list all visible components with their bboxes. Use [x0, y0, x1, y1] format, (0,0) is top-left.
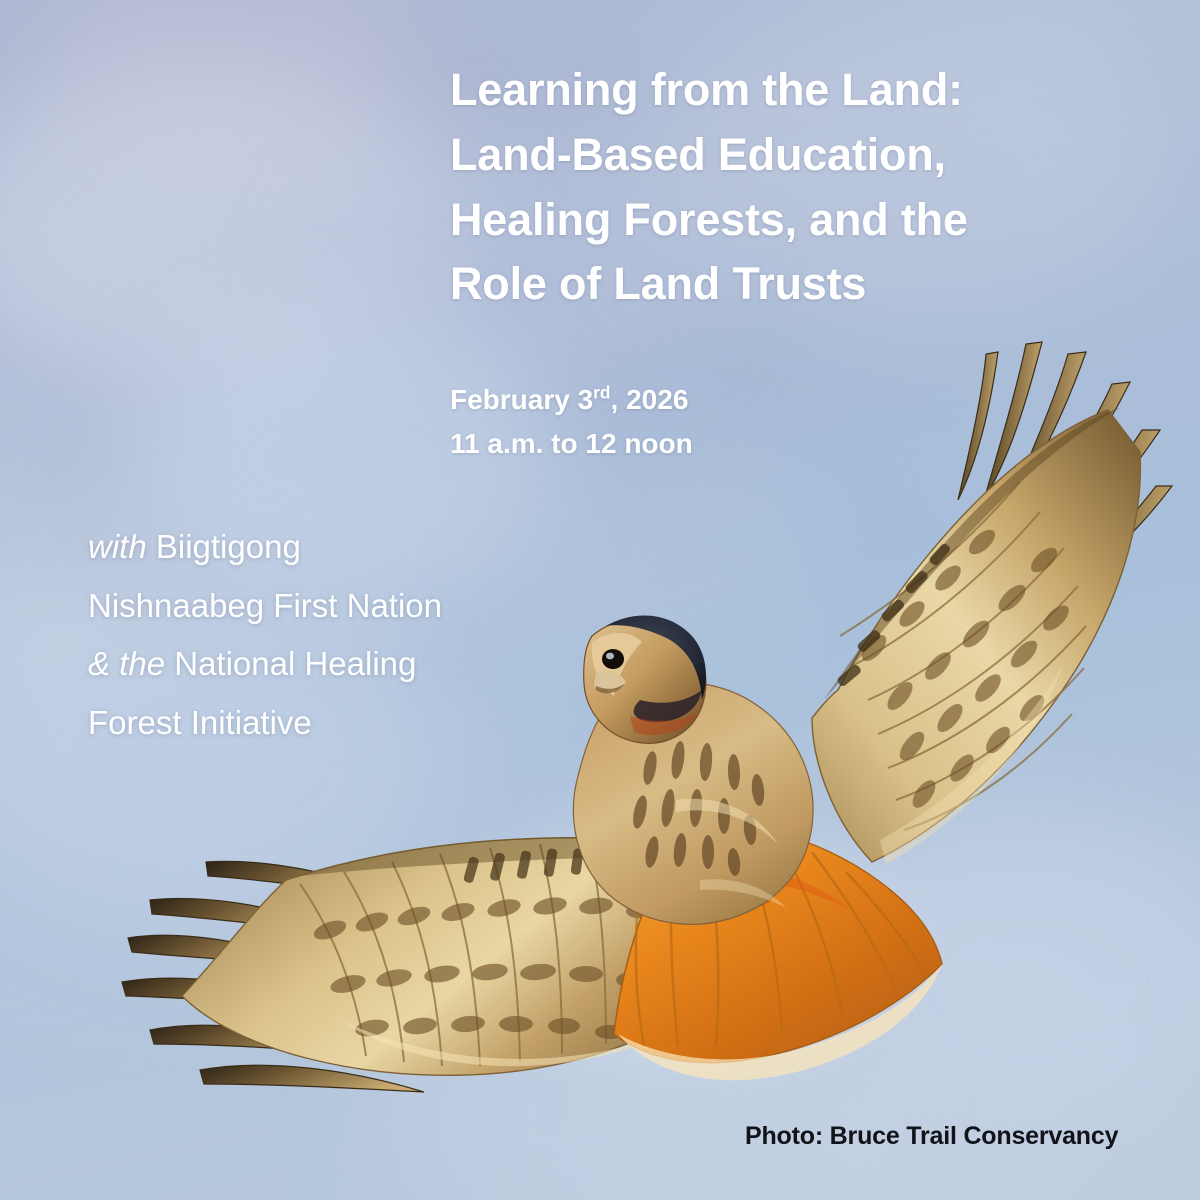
photo-credit: Photo: Bruce Trail Conservancy [745, 1122, 1118, 1151]
partners-line-3: & the National Healing [88, 635, 608, 694]
event-date-monthday: February 3 [450, 384, 593, 415]
partners-with-label: with [88, 528, 147, 565]
event-poster: Learning from the Land: Land-Based Educa… [0, 0, 1200, 1200]
event-partners: with Biigtigong Nishnaabeg First Nation … [88, 518, 608, 753]
partners-line-4: Forest Initiative [88, 694, 608, 753]
partners-and-the-label: & the [88, 645, 165, 682]
event-date: February 3rd, 2026 [450, 378, 1010, 422]
partners-line-1: with Biigtigong [88, 518, 608, 577]
title-line-1: Learning from the Land: [450, 58, 1070, 123]
page-title: Learning from the Land: Land-Based Educa… [450, 58, 1070, 317]
partners-name-part-2: National Healing [165, 645, 416, 682]
event-time: 11 a.m. to 12 noon [450, 422, 1010, 466]
title-line-2: Land-Based Education, [450, 123, 1070, 188]
partners-line-2: Nishnaabeg First Nation [88, 577, 608, 636]
title-line-4: Role of Land Trusts [450, 252, 1070, 317]
event-datetime: February 3rd, 2026 11 a.m. to 12 noon [450, 378, 1010, 466]
event-date-year: , 2026 [611, 384, 689, 415]
event-date-ordinal: rd [593, 383, 610, 403]
title-line-3: Healing Forests, and the [450, 188, 1070, 253]
partners-name-part-1: Biigtigong [147, 528, 301, 565]
